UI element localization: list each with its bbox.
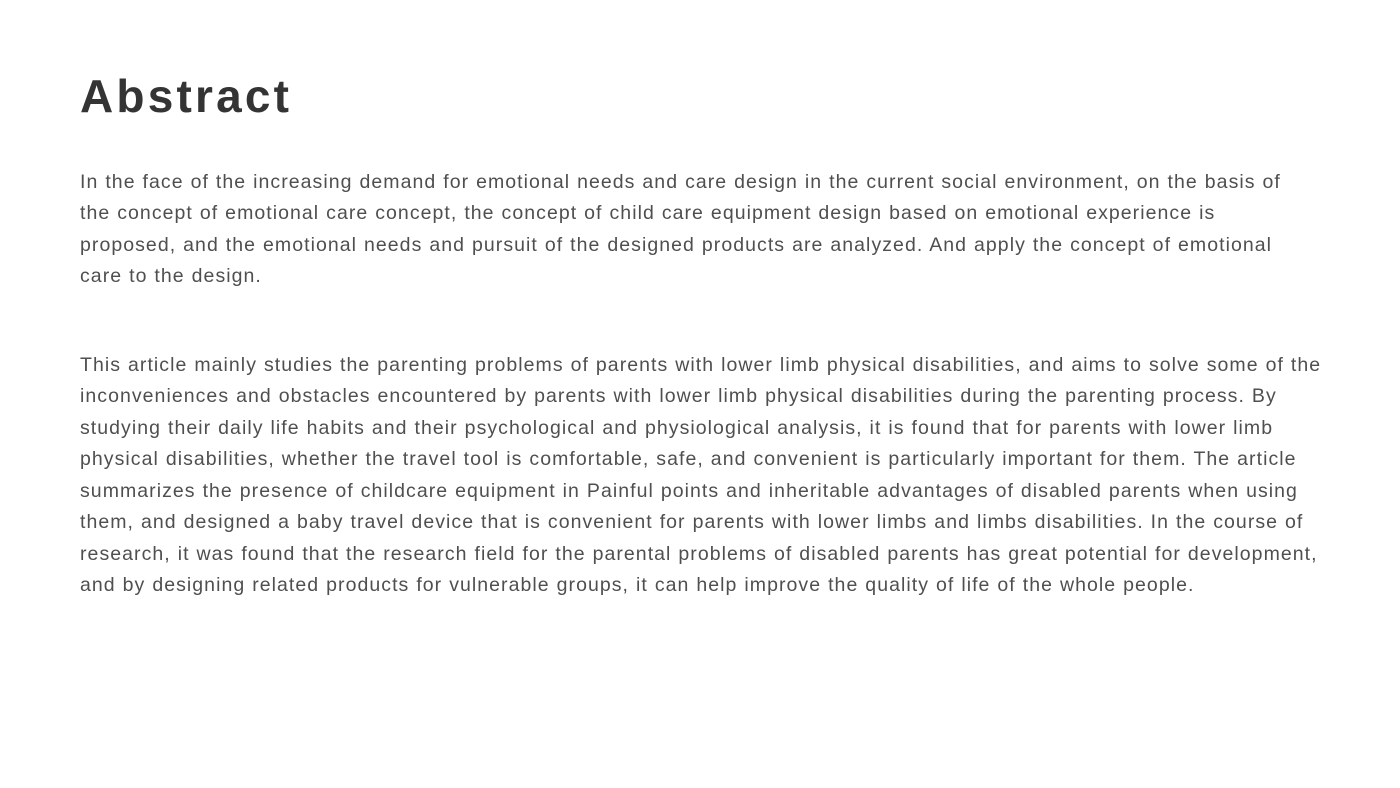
abstract-body: In the face of the increasing demand for…	[80, 167, 1330, 602]
abstract-paragraph-1: In the face of the increasing demand for…	[80, 167, 1318, 293]
document-page: Abstract In the face of the increasing d…	[0, 0, 1400, 788]
abstract-section: Abstract In the face of the increasing d…	[80, 70, 1330, 602]
abstract-paragraph-2: This article mainly studies the parentin…	[80, 350, 1325, 602]
page-title: Abstract	[80, 70, 1330, 123]
